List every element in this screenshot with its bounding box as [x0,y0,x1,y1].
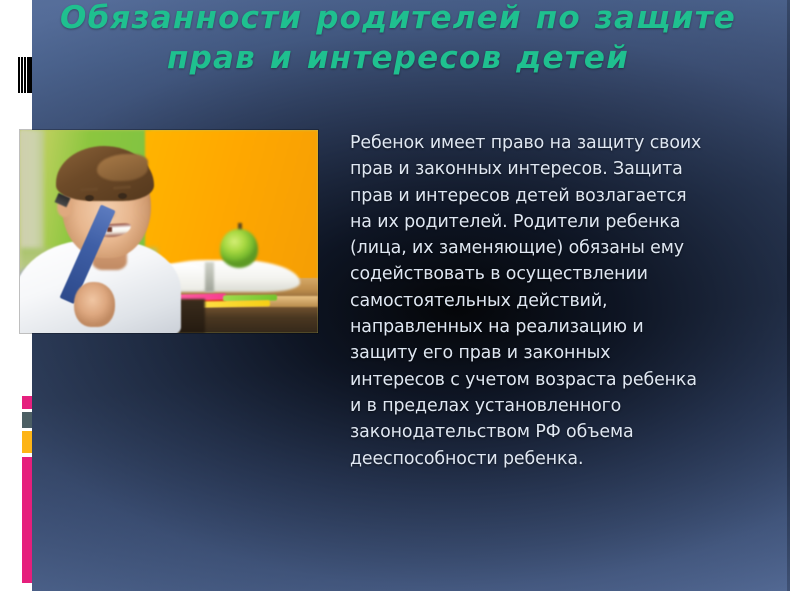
barcode-bar [27,57,32,93]
swatch-amber [22,431,32,453]
photo-hand [74,282,116,327]
slide-right-edge [787,0,790,591]
swatch-magenta-bar [22,457,32,583]
slide-canvas: Обязанности родителей по защите прав и и… [0,0,800,600]
swatch-slate [22,412,32,428]
swatch-pink [22,396,32,409]
photo-book-spine [205,262,214,292]
barcode-bar [18,57,20,93]
barcode-bar [21,57,23,93]
barcode-bar [24,57,26,93]
body-paragraph: Ребенок имеет право на защиту своих прав… [350,130,710,472]
photo-green-apple [220,229,259,268]
photo-hair-fringe [97,154,148,180]
slide-body-text: Ребенок имеет право на защиту своих прав… [350,130,710,472]
barcode-icon [18,57,32,93]
classroom-boy-photo [20,130,318,333]
